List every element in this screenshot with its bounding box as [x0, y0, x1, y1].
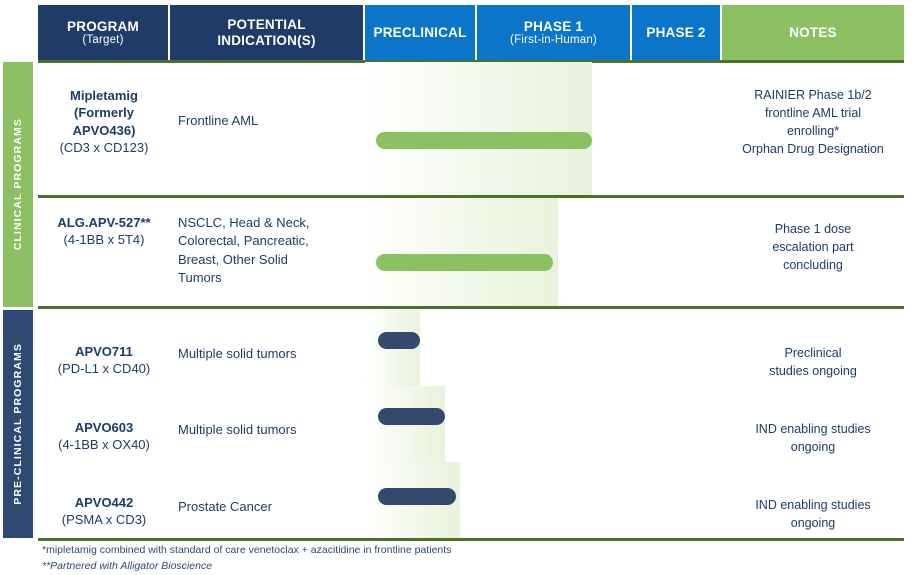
indication-text: Multiple solid tumors [178, 422, 297, 437]
table-row: APVO711 (PD-L1 x CD40) Multiple solid tu… [38, 310, 904, 386]
header-cell-phase1: PHASE 1 (First-in-Human) [477, 5, 630, 60]
section-rail-clinical: CLINICAL PROGRAMS [3, 62, 33, 307]
header-title-phase1: PHASE 1 [524, 19, 583, 34]
program-name-cell: APVO442 (PSMA x CD3) [38, 494, 170, 529]
header-title-indication: POTENTIAL [227, 17, 305, 32]
program-name-line3: APVO436) [73, 123, 136, 138]
notes-line: IND enabling studies [755, 498, 870, 512]
notes-line: enrolling* [787, 124, 839, 138]
notes-cell: IND enabling studies ongoing [722, 420, 904, 456]
header-cell-indication: POTENTIAL INDICATION(S) [170, 5, 363, 60]
notes-line: ongoing [791, 440, 836, 454]
notes-line: RAINIER Phase 1b/2 [754, 88, 871, 102]
notes-line: Preclinical [785, 346, 842, 360]
indication-cell: Multiple solid tumors [178, 421, 368, 439]
header-title-phase2: PHASE 2 [646, 25, 705, 40]
program-target: (CD3 x CD123) [60, 140, 149, 155]
footnotes: *mipletamig combined with standard of ca… [42, 543, 451, 575]
footnote-line-2: **Partnered with Alligator Bioscience [42, 559, 451, 575]
header-subtitle-phase1: (First-in-Human) [510, 34, 597, 47]
header-cell-program: PROGRAM (Target) [38, 5, 168, 60]
indication-line: Tumors [178, 270, 222, 285]
program-target: (PSMA x CD3) [62, 512, 147, 527]
progress-bar [378, 408, 445, 425]
indication-cell: Multiple solid tumors [178, 345, 368, 363]
section-rail-label-clinical: CLINICAL PROGRAMS [12, 118, 24, 250]
header-title-notes: NOTES [789, 25, 837, 40]
table-row: APVO603 (4-1BB x OX40) Multiple solid tu… [38, 386, 904, 462]
program-name-cell: ALG.APV-527** (4-1BB x 5T4) [38, 214, 170, 249]
section-rail-preclinical: PRE-CLINICAL PROGRAMS [3, 310, 33, 538]
notes-line: Orphan Drug Designation [742, 142, 884, 156]
divider-clinical-preclinical [38, 306, 904, 309]
table-row: Mipletamig (Formerly APVO436) (CD3 x CD1… [38, 62, 904, 195]
notes-cell: Phase 1 dose escalation part concluding [722, 220, 904, 274]
divider-table-bottom [38, 538, 904, 541]
program-name: Mipletamig [70, 88, 138, 103]
header-subtitle-program: (Target) [67, 34, 139, 47]
table-row: APVO442 (PSMA x CD3) Prostate Cancer IND… [38, 462, 904, 538]
notes-line: studies ongoing [769, 364, 857, 378]
notes-line: ongoing [791, 516, 836, 530]
notes-line: escalation part [772, 240, 853, 254]
program-name-line2: (Formerly [74, 105, 134, 120]
indication-line: Colorectal, Pancreatic, [178, 233, 309, 248]
program-name: APVO711 [75, 344, 133, 359]
header-cell-notes: NOTES [722, 5, 904, 60]
table-row: ALG.APV-527** (4-1BB x 5T4) NSCLC, Head … [38, 198, 904, 306]
indication-text: Frontline AML [178, 113, 258, 128]
program-target: (PD-L1 x CD40) [58, 361, 150, 376]
notes-line: frontline AML trial [765, 106, 861, 120]
program-name: APVO442 [75, 495, 134, 510]
indication-text: Multiple solid tumors [178, 346, 297, 361]
program-name-cell: Mipletamig (Formerly APVO436) (CD3 x CD1… [38, 87, 170, 156]
program-name: APVO603 [75, 420, 134, 435]
program-name-cell: APVO603 (4-1BB x OX40) [38, 419, 170, 454]
indication-line: NSCLC, Head & Neck, [178, 215, 310, 230]
program-target: (4-1BB x 5T4) [64, 232, 145, 247]
program-target: (4-1BB x OX40) [58, 437, 150, 452]
section-rail-label-preclinical: PRE-CLINICAL PROGRAMS [12, 343, 24, 505]
notes-line: concluding [783, 258, 843, 272]
progress-bar [378, 488, 456, 505]
progress-bar [378, 332, 420, 349]
indication-text: Prostate Cancer [178, 499, 272, 514]
pipeline-chart: PROGRAM (Target) POTENTIAL INDICATION(S)… [0, 0, 914, 571]
notes-line: Phase 1 dose [775, 222, 851, 236]
notes-cell: Preclinical studies ongoing [722, 344, 904, 380]
indication-cell: Prostate Cancer [178, 498, 368, 516]
progress-band [365, 198, 558, 306]
notes-cell: RAINIER Phase 1b/2 frontline AML trial e… [722, 86, 904, 159]
program-name-cell: APVO711 (PD-L1 x CD40) [38, 343, 170, 378]
indication-cell: Frontline AML [178, 112, 368, 130]
header-title-preclinical: PRECLINICAL [374, 25, 467, 40]
progress-bar [376, 132, 592, 149]
indication-line: Breast, Other Solid [178, 252, 288, 267]
header-subtitle-indication: INDICATION(S) [217, 33, 315, 48]
indication-cell: NSCLC, Head & Neck, Colorectal, Pancreat… [178, 214, 368, 288]
footnote-line-1: *mipletamig combined with standard of ca… [42, 543, 451, 559]
program-name: ALG.APV-527** [57, 215, 150, 230]
notes-cell: IND enabling studies ongoing [722, 496, 904, 532]
header-title-program: PROGRAM [67, 19, 139, 34]
progress-bar [376, 254, 553, 271]
header-cell-phase2: PHASE 2 [632, 5, 720, 60]
header-cell-preclinical: PRECLINICAL [365, 5, 475, 60]
notes-line: IND enabling studies [755, 422, 870, 436]
progress-band [365, 62, 592, 195]
